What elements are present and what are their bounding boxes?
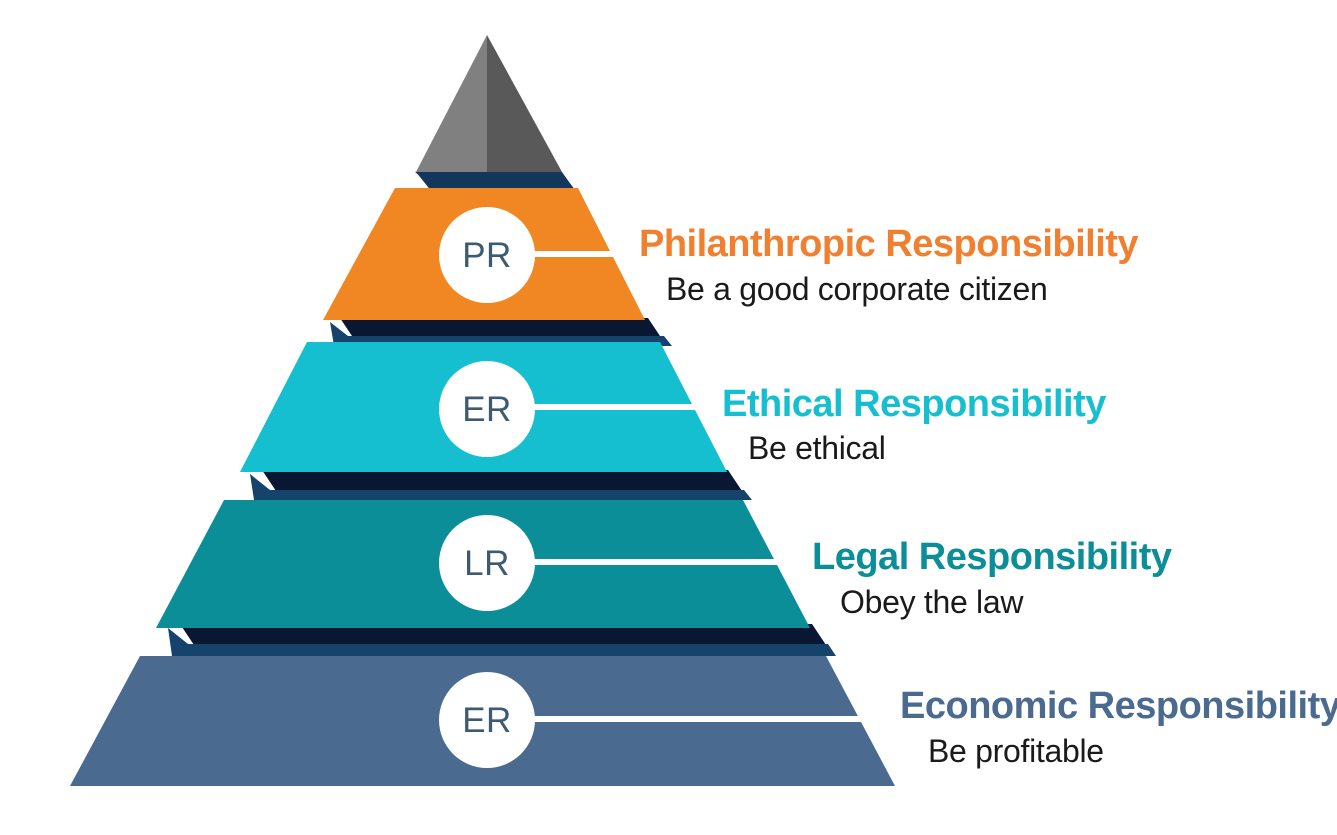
pyramid-apex-triangle — [416, 35, 487, 172]
tier-philanthropic-subtitle: Be a good corporate citizen — [666, 271, 1047, 307]
pyramid-apex-triangle-shade — [487, 35, 562, 172]
tier-legal-badge-label: LR — [464, 544, 510, 583]
tier-economic-title: Economic Responsibility — [900, 685, 1337, 727]
csr-pyramid-diagram: PR Philanthropic Responsibility Be a goo… — [0, 0, 1337, 835]
tier-economic[interactable]: ER Economic Responsibility Be profitable — [70, 656, 1337, 786]
tier-philanthropic-connector — [525, 251, 635, 257]
pyramid-apex-group — [415, 35, 576, 192]
tier-ethical-title: Ethical Responsibility — [722, 383, 1106, 425]
tier-legal[interactable]: LR Legal Responsibility Obey the law — [156, 500, 1172, 656]
tier-philanthropic[interactable]: PR Philanthropic Responsibility Be a goo… — [323, 188, 1138, 346]
tier-ethical-connector — [525, 404, 715, 410]
tier-philanthropic-title: Philanthropic Responsibility — [639, 223, 1138, 265]
tier-ethical-subtitle: Be ethical — [748, 430, 886, 466]
tier-ethical[interactable]: ER Ethical Responsibility Be ethical — [240, 342, 1106, 500]
tier-legal-connector — [525, 559, 810, 565]
tier-legal-title: Legal Responsibility — [812, 536, 1172, 578]
tier-philanthropic-badge-label: PR — [462, 236, 512, 275]
tier-economic-badge-label: ER — [462, 701, 512, 740]
tier-ethical-badge-label: ER — [462, 390, 512, 429]
tier-economic-connector — [525, 716, 895, 722]
tier-economic-subtitle: Be profitable — [928, 733, 1104, 769]
tier-legal-subtitle: Obey the law — [840, 584, 1024, 620]
pyramid-canvas: PR Philanthropic Responsibility Be a goo… — [0, 0, 1337, 835]
